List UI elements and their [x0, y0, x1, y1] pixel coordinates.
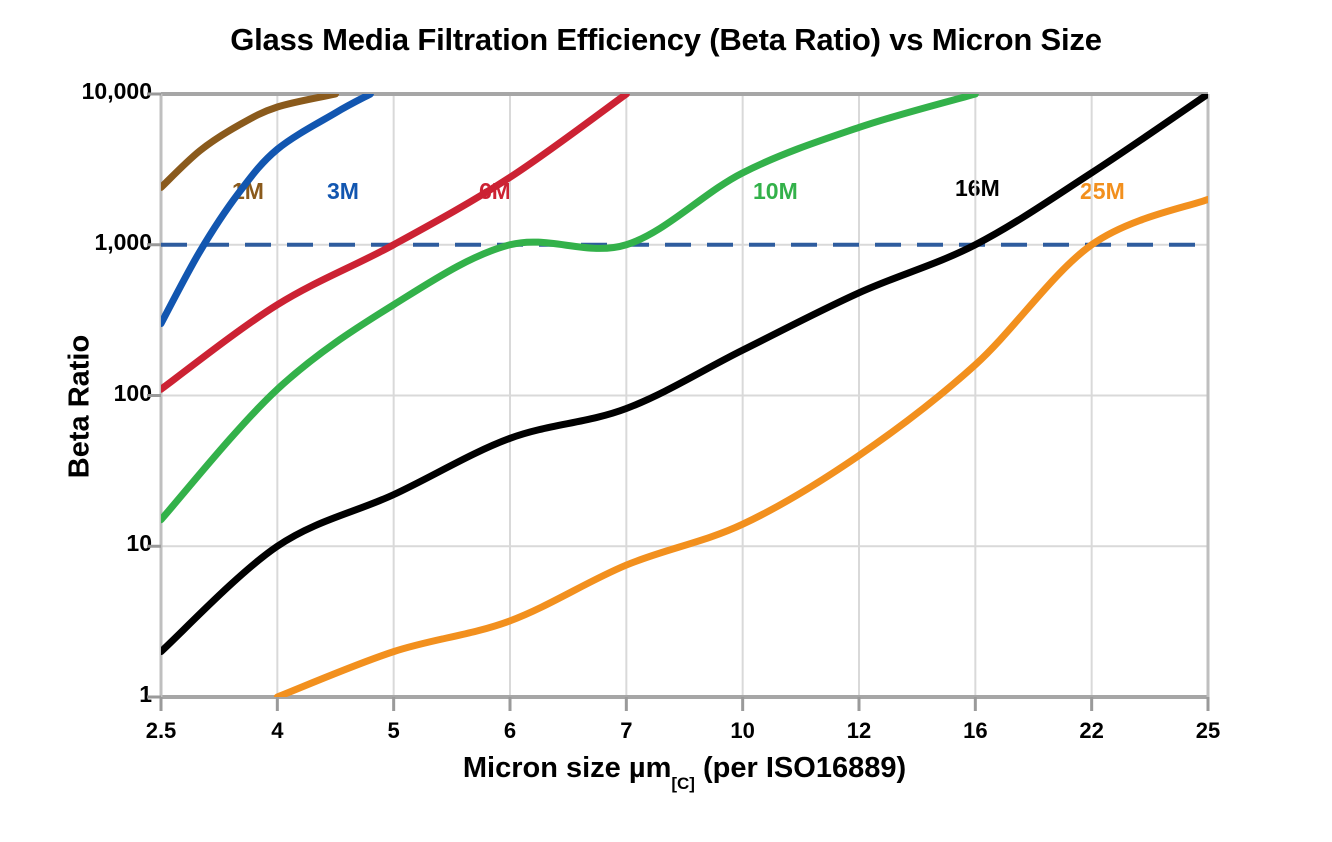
- chart-container: Glass Media Filtration Efficiency (Beta …: [0, 0, 1332, 842]
- series-line-3m: [161, 94, 370, 324]
- plot-area: [0, 0, 1332, 842]
- gridlines: [161, 94, 1208, 697]
- axis-tickmarks: [147, 94, 1208, 711]
- series-line-1m: [161, 94, 336, 187]
- series-line-16m: [161, 94, 1208, 652]
